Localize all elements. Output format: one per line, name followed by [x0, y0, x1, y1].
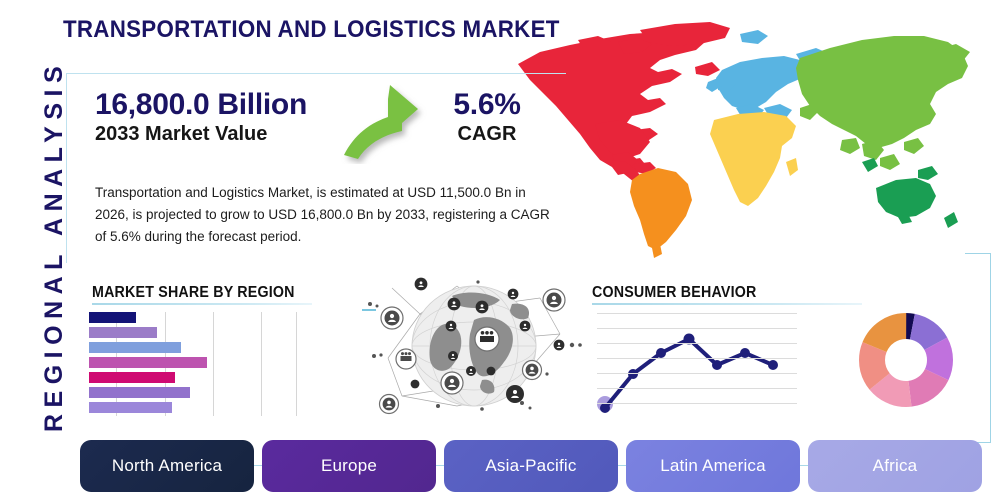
map-region-africa	[710, 112, 798, 206]
infographic-root: REGIONAL ANALYSIS TRANSPORTATION AND LOG…	[0, 0, 1000, 500]
market-value-label: 2033 Market Value	[95, 123, 345, 146]
map-region-south-america	[630, 168, 692, 258]
line-chart-gridlines	[597, 308, 797, 416]
market-share-heading: MARKET SHARE BY REGION	[92, 284, 295, 302]
world-map	[500, 12, 990, 262]
consumer-behavior-heading: CONSUMER BEHAVIOR	[592, 284, 756, 302]
region-button-europe[interactable]: Europe	[262, 440, 436, 492]
bar-row	[89, 342, 181, 353]
region-button-latin-america[interactable]: Latin America	[626, 440, 800, 492]
consumer-behavior-rule	[592, 303, 862, 305]
region-button-row: North America Europe Asia-Pacific Latin …	[80, 440, 960, 492]
bar-row	[89, 327, 157, 338]
market-description: Transportation and Logistics Market, is …	[95, 182, 560, 248]
cagr-stat: 5.6% CAGR	[412, 88, 562, 146]
region-button-asia-pacific[interactable]: Asia-Pacific	[444, 440, 618, 492]
bar-row	[89, 357, 207, 368]
map-region-asia	[796, 36, 970, 170]
market-share-rule	[92, 303, 312, 305]
market-value-number: 16,800.0 Billion	[95, 88, 345, 122]
bar-row	[89, 387, 190, 398]
region-button-north-america[interactable]: North America	[80, 440, 254, 492]
consumer-behavior-line-chart	[597, 308, 797, 416]
bar-row	[89, 372, 175, 383]
cagr-number: 5.6%	[412, 88, 562, 122]
segment-donut-chart	[857, 311, 955, 409]
global-network-icon	[362, 276, 587, 419]
map-region-oceania	[862, 158, 958, 228]
page-title: TRANSPORTATION AND LOGISTICS MARKET	[63, 16, 560, 44]
region-button-africa[interactable]: Africa	[808, 440, 982, 492]
market-share-bar-chart	[89, 312, 308, 416]
cagr-label: CAGR	[412, 123, 562, 146]
side-label-regional-analysis: REGIONAL ANALYSIS	[40, 87, 69, 432]
market-value-stat: 16,800.0 Billion 2033 Market Value	[95, 88, 345, 146]
right-frame-decoration	[965, 253, 991, 443]
hero-stats-row: 16,800.0 Billion 2033 Market Value 5.6% …	[95, 88, 565, 173]
bar-row	[89, 402, 172, 413]
bar-row	[89, 312, 136, 323]
hero-card: 16,800.0 Billion 2033 Market Value 5.6% …	[66, 73, 566, 263]
